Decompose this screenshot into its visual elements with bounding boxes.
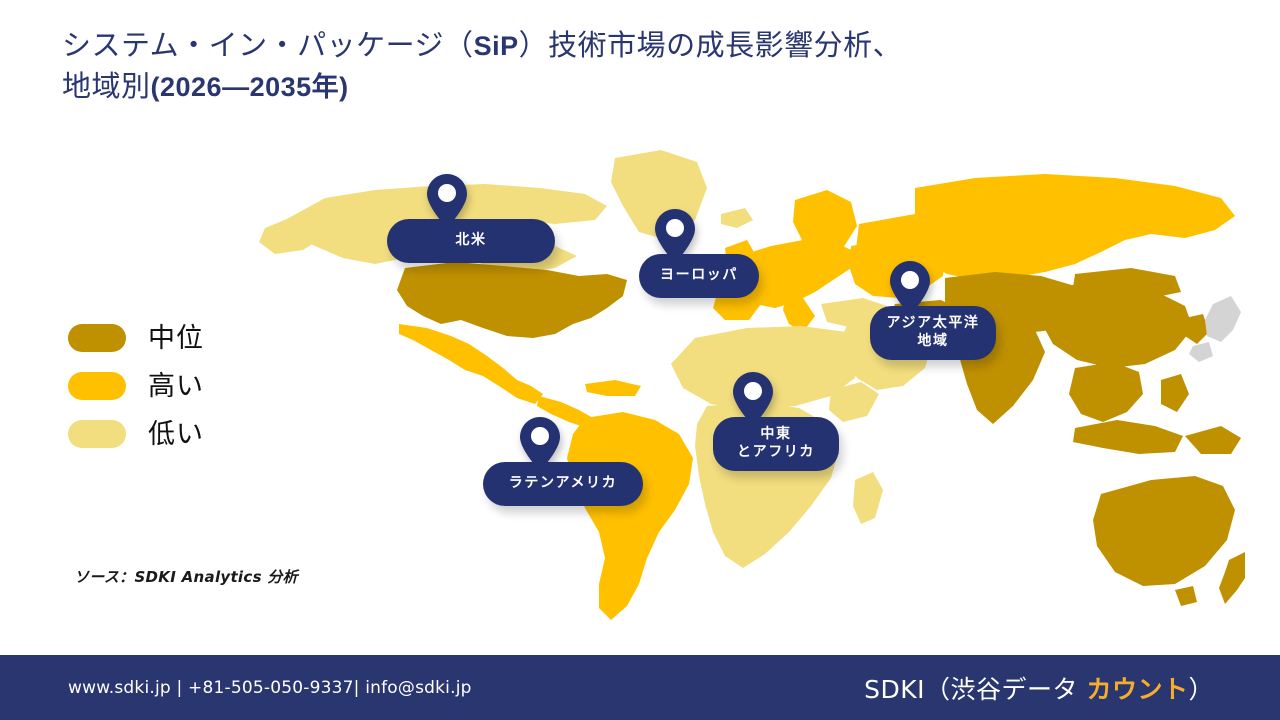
title-line1-pre: システム・イン・パッケージ（	[62, 30, 474, 62]
legend: 中位 高い 低い	[68, 315, 204, 459]
region-new-guinea	[1185, 426, 1241, 454]
title-line2-pre: 地域別	[62, 71, 151, 103]
region-alaska	[259, 214, 327, 254]
region-caribbean	[585, 380, 641, 396]
legend-swatch-low	[68, 420, 126, 448]
region-russia	[915, 174, 1235, 280]
world-map	[255, 128, 1245, 648]
region-madagascar	[853, 472, 883, 524]
footer-contact-info[interactable]: www.sdki.jp | +81-505-050-9337| info@sdk…	[68, 678, 472, 698]
brand-prefix: SDKI（渋谷データ	[864, 675, 1086, 704]
region-philippines	[1161, 374, 1189, 412]
title-sip-abbrev: SiP	[474, 31, 519, 61]
title-line-2: 地域別(2026—2035年)	[62, 67, 1212, 108]
region-sub-saharan-africa	[695, 402, 839, 568]
title-year-range: (2026—2035	[151, 72, 312, 102]
legend-label-medium: 中位	[148, 325, 204, 352]
brand-accent-text: カウント	[1086, 675, 1188, 704]
region-korea-peninsula	[1185, 314, 1209, 344]
legend-item-low: 低い	[68, 411, 204, 457]
region-indonesia	[1073, 420, 1183, 454]
region-southeast-asia	[1069, 362, 1143, 422]
region-australia	[1093, 476, 1235, 586]
page-title: システム・イン・パッケージ（SiP）技術市場の成長影響分析、 地域別(2026—…	[62, 26, 1212, 108]
legend-item-medium: 中位	[68, 315, 204, 361]
footer-bar: www.sdki.jp | +81-505-050-9337| info@sdk…	[0, 655, 1280, 720]
infographic-slide: システム・イン・パッケージ（SiP）技術市場の成長影響分析、 地域別(2026—…	[0, 0, 1280, 720]
legend-swatch-high	[68, 372, 126, 400]
legend-item-high: 高い	[68, 363, 204, 409]
legend-swatch-medium	[68, 324, 126, 352]
region-iceland	[721, 208, 753, 228]
region-south-asia	[959, 320, 1045, 424]
region-japan-south	[1189, 342, 1213, 362]
region-iberia	[713, 290, 761, 320]
region-japan	[1205, 296, 1241, 342]
legend-label-high: 高い	[148, 373, 204, 400]
map-landmasses	[259, 150, 1245, 620]
region-new-zealand	[1219, 552, 1245, 604]
brand-suffix: ）	[1188, 675, 1214, 704]
region-south-america	[567, 412, 693, 620]
region-canada	[285, 184, 607, 274]
title-line2-post: 年)	[312, 72, 349, 102]
title-line1-post: ）技術市場の成長影響分析、	[519, 30, 903, 62]
region-tasmania	[1175, 586, 1197, 606]
region-greenland	[611, 150, 707, 240]
legend-label-low: 低い	[148, 421, 204, 448]
region-united-states	[397, 262, 627, 338]
title-line-1: システム・イン・パッケージ（SiP）技術市場の成長影響分析、	[62, 26, 1212, 67]
footer-brand: SDKI（渋谷データ カウント）	[864, 670, 1214, 706]
